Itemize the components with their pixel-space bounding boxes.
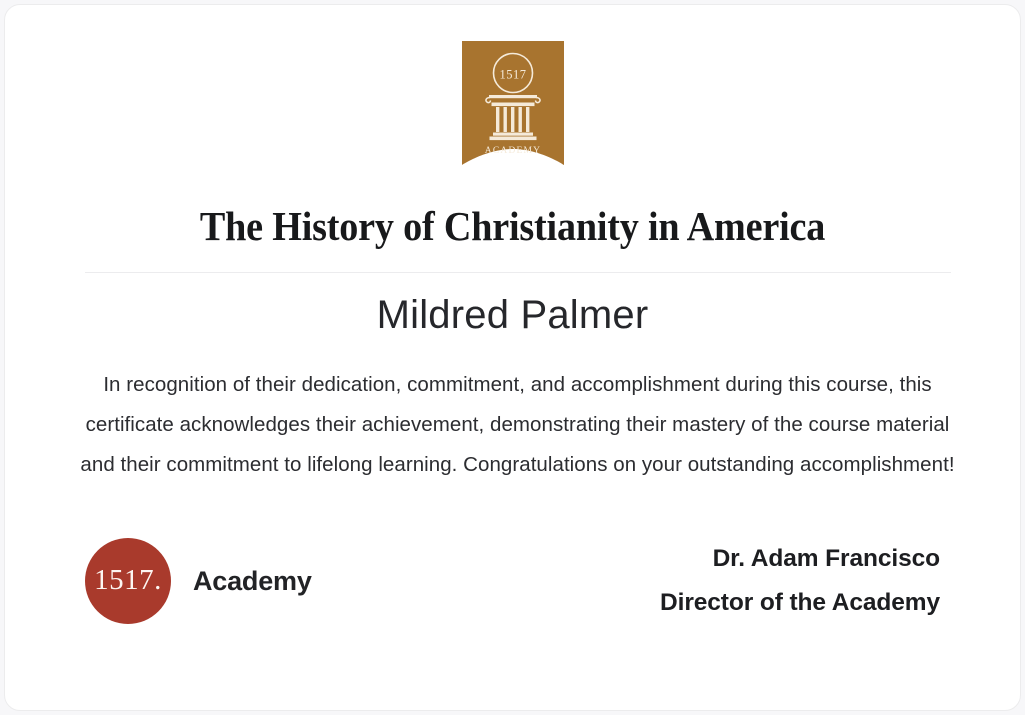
signatory-name: Dr. Adam Francisco: [660, 537, 940, 581]
academy-column-banner-logo: 1517 ACADEMY: [462, 41, 564, 165]
course-title: The History of Christianity in America: [41, 197, 985, 255]
signatory-title: Director of the Academy: [660, 581, 940, 625]
title-divider: [85, 272, 951, 273]
academy-seal-year: 1517.: [94, 566, 162, 597]
signature-block: Dr. Adam Francisco Director of the Acade…: [660, 537, 940, 625]
svg-text:ACADEMY: ACADEMY: [484, 146, 540, 156]
recipient-name: Mildred Palmer: [5, 290, 1020, 340]
recognition-text: In recognition of their dedication, comm…: [77, 365, 958, 485]
academy-brand-name: Academy: [193, 566, 312, 597]
certificate-card: 1517 ACADEMY The History of Christianity…: [4, 4, 1021, 711]
academy-brand: 1517. Academy: [85, 538, 312, 624]
certificate-footer: 1517. Academy Dr. Adam Francisco Directo…: [85, 521, 940, 641]
svg-text:1517: 1517: [499, 68, 526, 82]
academy-seal: 1517.: [85, 538, 171, 624]
